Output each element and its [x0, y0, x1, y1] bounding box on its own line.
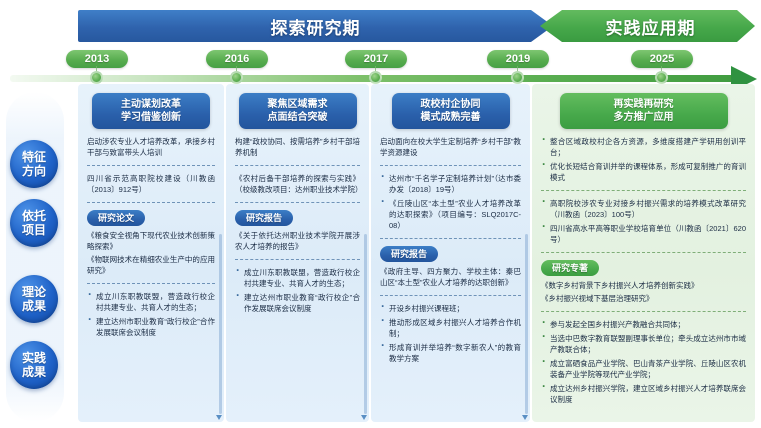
divider: [380, 165, 521, 166]
results-block: 研究报告 《关于依托达州职业技术学院开展涉农人才培养的报告》: [233, 210, 362, 252]
column-header-line1: 再实践再研究: [564, 98, 724, 111]
divider: [380, 238, 521, 239]
column-header-line2: 多方推广应用: [564, 111, 724, 124]
category-line1: 依托: [22, 209, 46, 223]
project-block: 四川省示范高职院校建设（川教函〔2013〕912号）: [85, 173, 217, 195]
category-line1: 实践: [22, 351, 46, 365]
project-item: 达州市“千名学子定制培养计划”（达市委办发〔2018〕19号）: [380, 173, 521, 195]
column-2017: 政校村企协同 模式成熟完善 启动面向在校大学生定制培养“乡村干部”教学资源建设 …: [371, 84, 530, 422]
feature-block: 整合区域政校村企各方资源，多维度搭建产学研用创训平台； 优化长短结合育训并举的课…: [539, 136, 748, 183]
practice-block: 参与发起全国乡村振兴产教融合共同体； 当选中巴数字教育联盟副理事长单位；牵头成立…: [539, 319, 748, 405]
year-pill-2013[interactable]: 2013: [66, 50, 128, 68]
practice-item: 建立达州市职业教育“政行校企”合作发展联席会议制度: [87, 316, 215, 338]
year-pill-2025[interactable]: 2025: [631, 50, 693, 68]
column-header-line2: 学习借鉴创新: [96, 111, 206, 124]
practice-item: 开设乡村振兴课程班；: [380, 303, 521, 314]
project-item: 高职院校涉农专业对接乡村振兴需求的培养模式改革研究（川教函〔2023〕100号）: [541, 198, 746, 220]
practice-item: 成立达州乡村振兴学院，建立区域乡村振兴人才培养联席会议制度: [541, 383, 746, 405]
feature-block: 启动面向在校大学生定制培养“乡村干部”教学资源建设: [378, 136, 523, 158]
project-item: 《丘陵山区“本土型”农业人才培养改革的达职探索》（项目编号：SLQ2017C-0…: [380, 198, 521, 231]
year-dot-2019: [511, 71, 524, 84]
practice-block: 开设乡村振兴课程班； 推动形成区域乡村振兴人才培养合作机制； 形成育训并举培养“…: [378, 303, 523, 364]
project-text: 《农村后备干部培养的探索与实践》（校级教改项目：达州职业技术学院）: [235, 173, 360, 195]
divider: [235, 202, 360, 203]
project-block: 《农村后备干部培养的探索与实践》（校级教改项目：达州职业技术学院）: [233, 173, 362, 195]
category-line1: 特征: [22, 150, 46, 164]
practice-block: 成立川东职教联盟，营造政行校企村共建专业、共育人才的生态； 建立达州市职业教育“…: [233, 267, 362, 314]
practice-item: 推动形成区域乡村振兴人才培养合作机制；: [380, 317, 521, 339]
result-item: 《物联网技术在精细农业生产中的应用研究》: [87, 254, 215, 276]
year-pill-2019[interactable]: 2019: [487, 50, 549, 68]
column-header-line2: 模式成熟完善: [396, 111, 506, 124]
year-dot-2025: [655, 71, 668, 84]
column-header-2019-2025: 再实践再研究 多方推广应用: [560, 93, 728, 129]
divider: [541, 252, 746, 253]
results-block: 研究报告 《政府主导、四方聚力、学校主体：秦巴山区“本土型”农业人才培养的达职创…: [378, 246, 523, 288]
category-line2: 项目: [22, 223, 46, 237]
project-block: 高职院校涉农专业对接乡村振兴需求的培养模式改革研究（川教函〔2023〕100号）…: [539, 198, 748, 245]
column-header-2016: 聚焦区域需求 点面结合突破: [239, 93, 357, 129]
feature-item: 整合区域政校村企各方资源，多维度搭建产学研用创训平台；: [541, 136, 746, 158]
phase-label-exploration: 探索研究期: [271, 14, 361, 39]
divider: [87, 165, 215, 166]
year-label: 2016: [225, 53, 249, 65]
results-block: 研究专著 《数字乡村背景下乡村振兴人才培养创新实践》 《乡村振兴视域下基层治理研…: [539, 260, 748, 304]
feature-block: 构建“政校协同、按需培养”乡村干部培养机制: [233, 136, 362, 158]
result-item: 《关于依托达州职业技术学院开展涉农人才培养的报告》: [235, 230, 360, 252]
year-label: 2019: [506, 53, 530, 65]
year-pill-2017[interactable]: 2017: [345, 50, 407, 68]
phase-banner-application: 实践应用期: [540, 10, 755, 42]
feature-text: 启动涉农专业人才培养改革，承接乡村干部与致富带头人培训: [87, 136, 215, 158]
year-dot-2017: [369, 71, 382, 84]
column-header-line2: 点面结合突破: [243, 111, 353, 124]
project-list: 达州市“千名学子定制培养计划”（达市委办发〔2018〕19号） 《丘陵山区“本土…: [380, 173, 521, 231]
year-dot-2016: [230, 71, 243, 84]
project-text: 四川省示范高职院校建设（川教函〔2013〕912号）: [87, 173, 215, 195]
column-header-line1: 政校村企协同: [396, 98, 506, 111]
result-item: 《数字乡村背景下乡村振兴人才培养创新实践》: [541, 280, 746, 291]
feature-item: 优化长短结合育训并举的课程体系，形成可复制推广的育训模式: [541, 161, 746, 183]
year-dot-2013: [90, 71, 103, 84]
practice-list: 成立川东职教联盟，营造政行校企村共建专业、共育人才的生态； 建立达州市职业教育“…: [87, 291, 215, 338]
results-tag: 研究报告: [380, 246, 438, 262]
column-2013: 主动谋划改革 学习借鉴创新 启动涉农专业人才培养改革，承接乡村干部与致富带头人培…: [78, 84, 224, 422]
practice-item: 成立川东职教联盟，营造政行校企村共建专业、共育人才的生态；: [235, 267, 360, 289]
category-theoretical-results[interactable]: 理论 成果: [10, 275, 58, 323]
practice-item: 当选中巴数字教育联盟副理事长单位；牵头成立达州市市域产教联合体；: [541, 333, 746, 355]
column-scrollbar[interactable]: [364, 234, 367, 414]
divider: [235, 165, 360, 166]
category-feature-direction[interactable]: 特征 方向: [10, 140, 58, 188]
results-tag: 研究论文: [87, 210, 145, 226]
practice-list: 开设乡村振兴课程班； 推动形成区域乡村振兴人才培养合作机制； 形成育训并举培养“…: [380, 303, 521, 364]
infographic-root: 探索研究期 实践应用期 2013 2016 2017 2019 2025 特征 …: [0, 0, 761, 428]
column-scrollbar[interactable]: [219, 234, 222, 414]
project-list: 高职院校涉农专业对接乡村振兴需求的培养模式改革研究（川教函〔2023〕100号）…: [541, 198, 746, 245]
practice-item: 成立富硒食品产业学院、巴山青茶产业学院、丘陵山区农机装备产业学院等现代产业学院；: [541, 358, 746, 380]
practice-item: 形成育训并举培养“数字新农人”的教育教学方案: [380, 342, 521, 364]
project-block: 达州市“千名学子定制培养计划”（达市委办发〔2018〕19号） 《丘陵山区“本土…: [378, 173, 523, 231]
column-header-line1: 主动谋划改革: [96, 98, 206, 111]
category-practical-results[interactable]: 实践 成果: [10, 341, 58, 389]
phase-label-application: 实践应用期: [600, 14, 696, 39]
category-supporting-projects[interactable]: 依托 项目: [10, 199, 58, 247]
practice-block: 成立川东职教联盟，营造政行校企村共建专业、共育人才的生态； 建立达州市职业教育“…: [85, 291, 217, 338]
column-header-2017: 政校村企协同 模式成熟完善: [392, 93, 510, 129]
result-item: 《政府主导、四方聚力、学校主体：秦巴山区“本土型”农业人才培养的达职创新》: [380, 266, 521, 288]
phase-banner-row: 探索研究期 实践应用期: [0, 10, 761, 42]
results-block: 研究论文 《粮食安全视角下现代农业技术创新策略探索》 《物联网技术在精细农业生产…: [85, 210, 217, 276]
results-tag: 研究专著: [541, 260, 599, 276]
phase-banner-exploration: 探索研究期: [78, 10, 553, 42]
category-line1: 理论: [22, 285, 46, 299]
feature-text: 构建“政校协同、按需培养”乡村干部培养机制: [235, 136, 360, 158]
category-line2: 成果: [22, 299, 46, 313]
practice-list: 参与发起全国乡村振兴产教融合共同体； 当选中巴数字教育联盟副理事长单位；牵头成立…: [541, 319, 746, 405]
column-2016: 聚焦区域需求 点面结合突破 构建“政校协同、按需培养”乡村干部培养机制 《农村后…: [226, 84, 369, 422]
feature-block: 启动涉农专业人才培养改革，承接乡村干部与致富带头人培训: [85, 136, 217, 158]
divider: [235, 259, 360, 260]
year-pill-2016[interactable]: 2016: [206, 50, 268, 68]
scroll-thumb-icon[interactable]: [522, 415, 528, 420]
divider: [87, 202, 215, 203]
practice-list: 成立川东职教联盟，营造政行校企村共建专业、共育人才的生态； 建立达州市职业教育“…: [235, 267, 360, 314]
feature-list: 整合区域政校村企各方资源，多维度搭建产学研用创训平台； 优化长短结合育训并举的课…: [541, 136, 746, 183]
column-scrollbar[interactable]: [525, 234, 528, 414]
year-label: 2013: [85, 53, 109, 65]
divider: [541, 311, 746, 312]
practice-item: 参与发起全国乡村振兴产教融合共同体；: [541, 319, 746, 330]
column-header-2013: 主动谋划改革 学习借鉴创新: [92, 93, 210, 129]
year-label: 2025: [650, 53, 674, 65]
result-item: 《乡村振兴视域下基层治理研究》: [541, 293, 746, 304]
divider: [87, 283, 215, 284]
divider: [380, 295, 521, 296]
category-line2: 方向: [22, 164, 46, 178]
column-2019-2025: 再实践再研究 多方推广应用 整合区域政校村企各方资源，多维度搭建产学研用创训平台…: [532, 84, 755, 422]
divider: [541, 190, 746, 191]
results-tag: 研究报告: [235, 210, 293, 226]
scroll-thumb-icon[interactable]: [216, 415, 222, 420]
category-line2: 成果: [22, 365, 46, 379]
practice-item: 建立达州市职业教育“政行校企”合作发展联席会议制度: [235, 292, 360, 314]
feature-text: 启动面向在校大学生定制培养“乡村干部”教学资源建设: [380, 136, 521, 158]
practice-item: 成立川东职教联盟，营造政行校企村共建专业、共育人才的生态；: [87, 291, 215, 313]
scroll-thumb-icon[interactable]: [361, 415, 367, 420]
year-label: 2017: [364, 53, 388, 65]
column-header-line1: 聚焦区域需求: [243, 98, 353, 111]
result-item: 《粮食安全视角下现代农业技术创新策略探索》: [87, 230, 215, 252]
project-item: 四川省高水平高等职业学校培育单位（川教函〔2021〕620 号）: [541, 223, 746, 245]
